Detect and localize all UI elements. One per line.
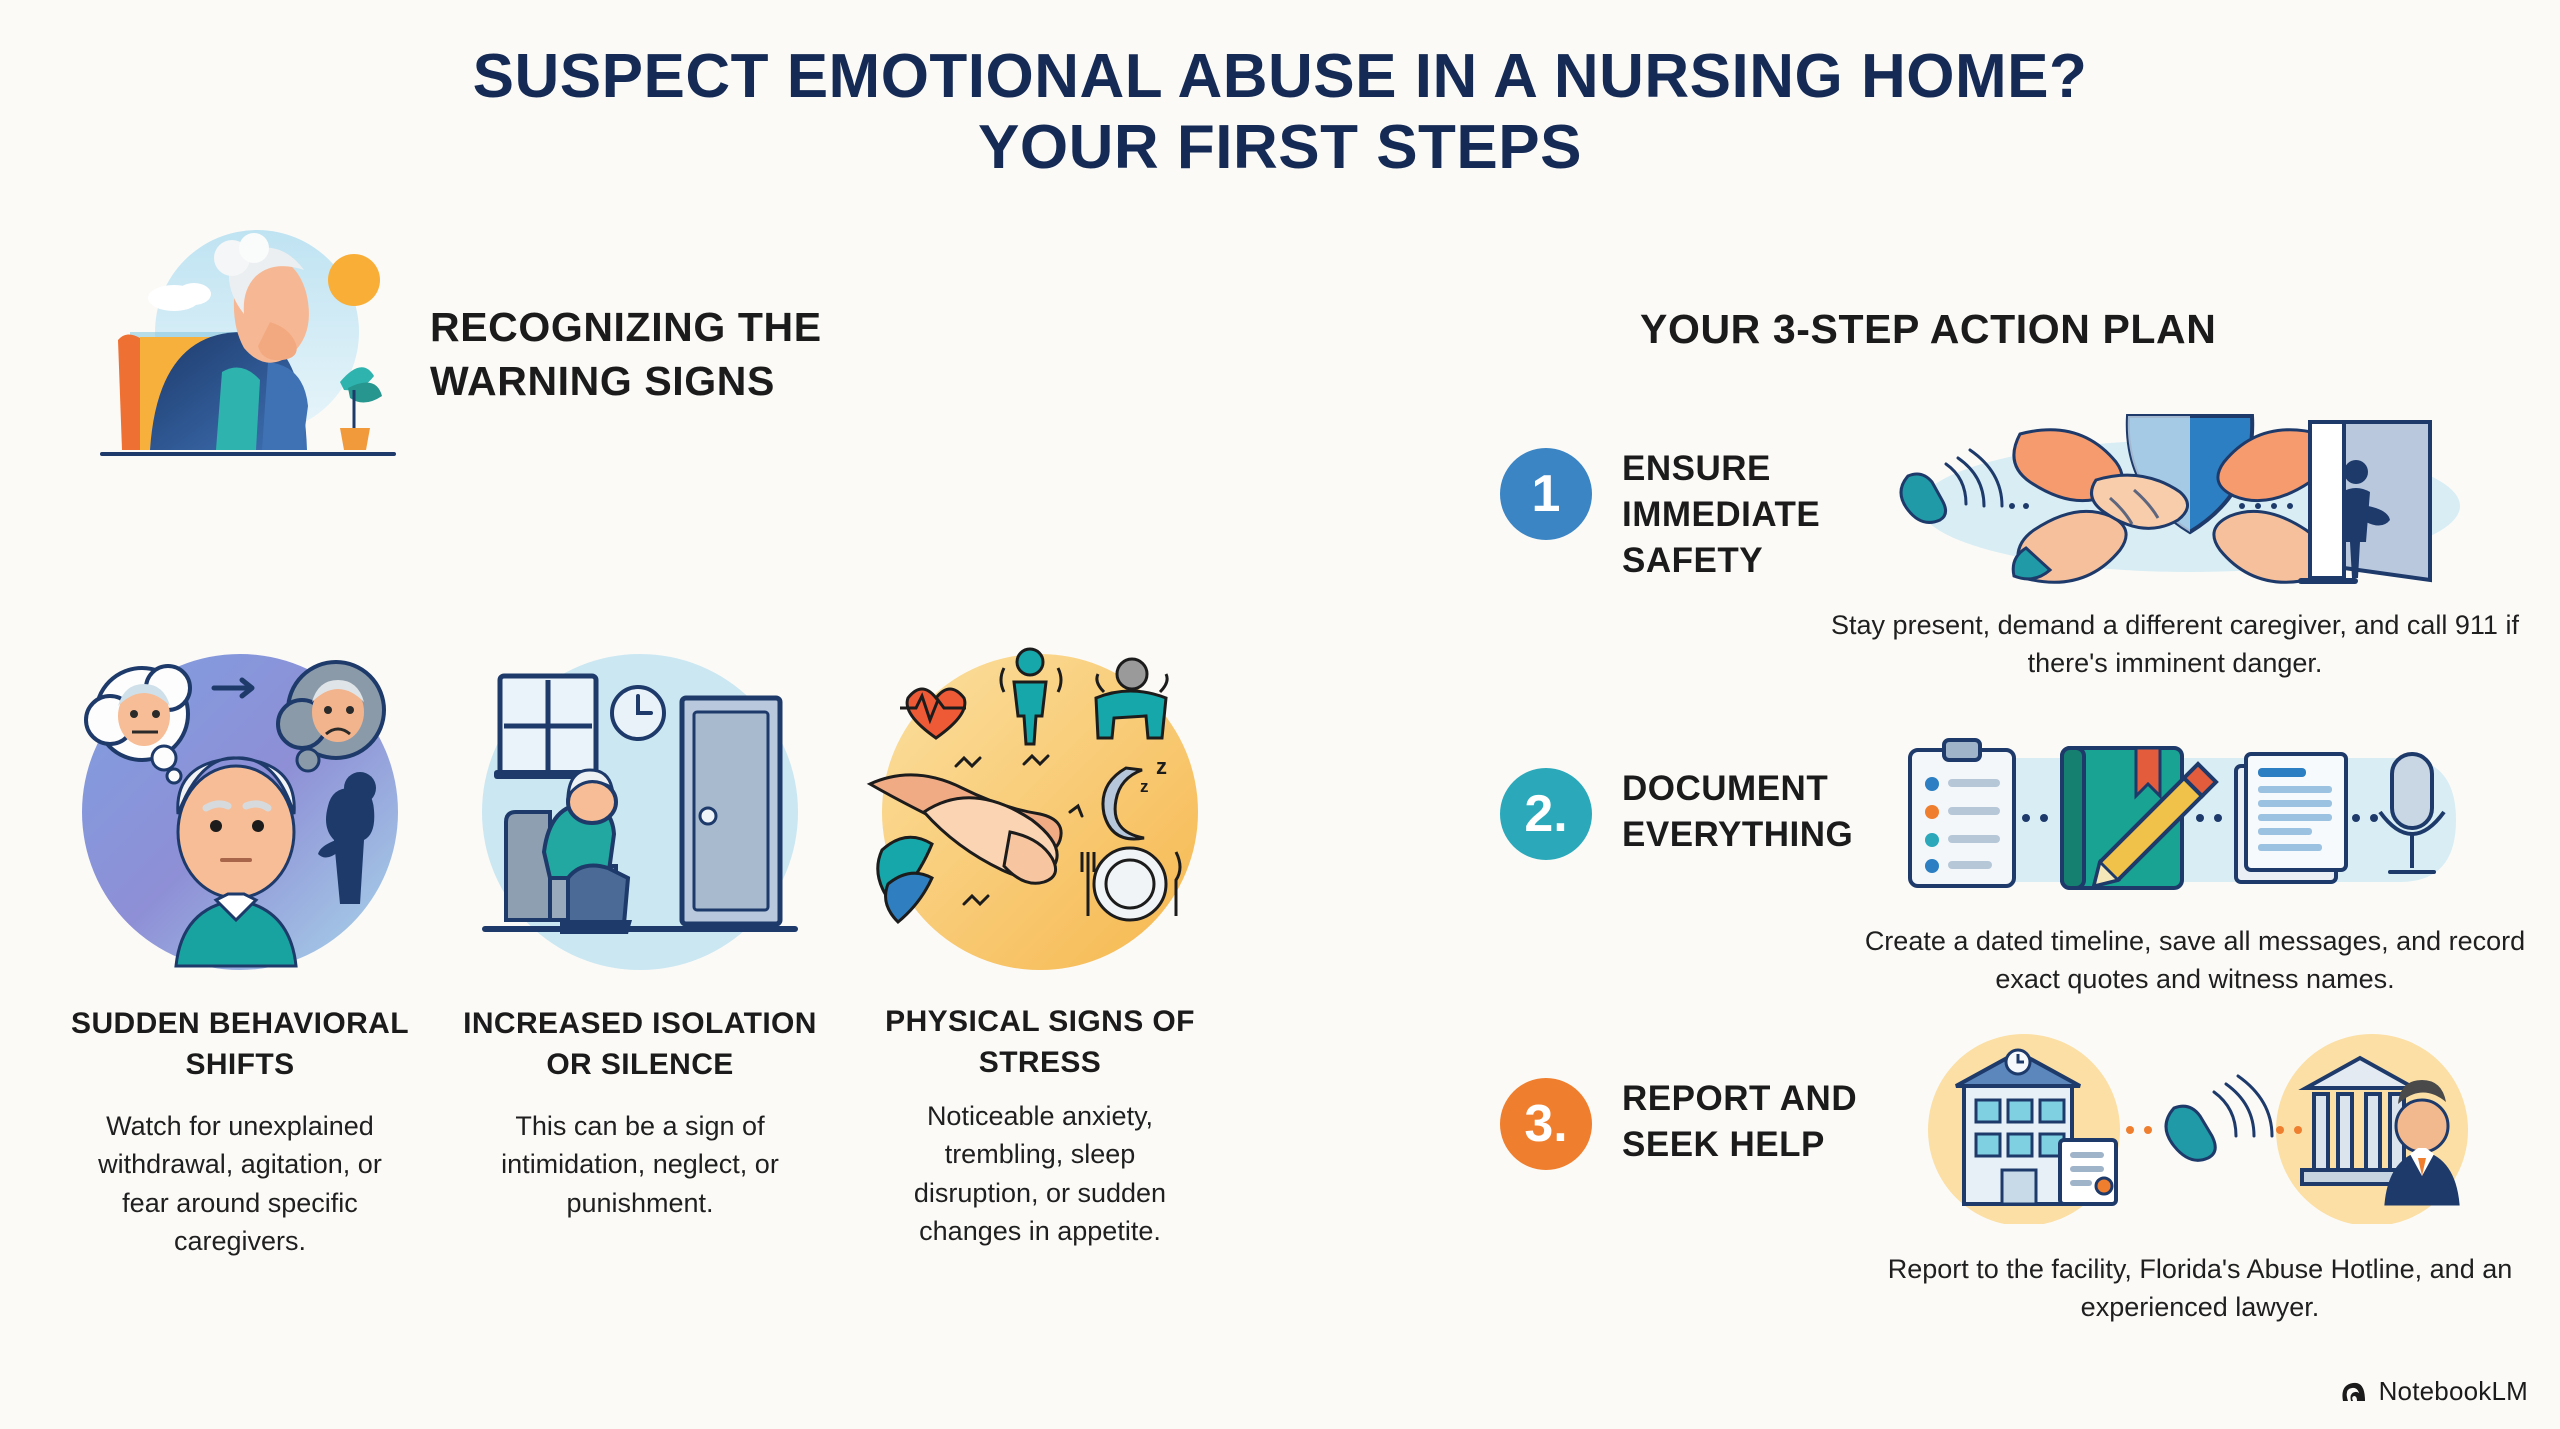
warning-card: z z PHYSICAL SIGNS OF STRESS Noticeable … (840, 636, 1240, 1260)
warning-card: INCREASED ISOLATION OR SILENCE This can … (440, 636, 840, 1260)
step-number-badge: 2. (1500, 768, 1592, 860)
facility-phone-courthouse-icon (1920, 1034, 2480, 1224)
svg-text:z: z (1156, 754, 1167, 779)
elderly-person-thinking-illustration (82, 222, 412, 477)
page-title-line-2: YOUR FIRST STEPS (0, 113, 2560, 184)
svg-text:z: z (1140, 777, 1149, 796)
stress-symptoms-icon: z z (864, 636, 1216, 988)
right-section-heading: YOUR 3-STEP ACTION PLAN (1640, 302, 2400, 356)
warning-card-title: INCREASED ISOLATION OR SILENCE (440, 1004, 840, 1085)
warning-card-title: SUDDEN BEHAVIORAL SHIFTS (40, 1004, 440, 1085)
shield-protecting-hands-icon (1890, 410, 2470, 600)
isolated-person-in-room-icon (464, 636, 816, 988)
warning-card-body: Noticeable anxiety, trembling, sleep dis… (890, 1097, 1190, 1250)
warning-card-body: Watch for unexplained withdrawal, agitat… (80, 1107, 400, 1260)
behavioral-change-thought-bubbles-icon (64, 636, 416, 988)
action-step: 1 ENSURE IMMEDIATE SAFETY Stay present, … (1500, 444, 2540, 585)
page-title-line-1: SUSPECT EMOTIONAL ABUSE IN A NURSING HOM… (0, 42, 2560, 113)
clipboard-notebook-documents-icon (1900, 736, 2470, 906)
action-step-body: Create a dated timeline, save all messag… (1830, 922, 2560, 999)
action-step: 3. REPORT AND SEEK HELP Report t (1500, 1074, 2540, 1170)
page-title: SUSPECT EMOTIONAL ABUSE IN A NURSING HOM… (0, 42, 2560, 183)
action-step: 2. DOCUMENT EVERYTHING (1500, 764, 2540, 860)
action-step-title: DOCUMENT EVERYTHING (1622, 764, 1922, 858)
warning-card: SUDDEN BEHAVIORAL SHIFTS Watch for unexp… (40, 636, 440, 1260)
warning-card-title: PHYSICAL SIGNS OF STRESS (840, 1002, 1240, 1083)
action-step-body: Report to the facility, Florida's Abuse … (1870, 1250, 2530, 1327)
action-step-title: ENSURE IMMEDIATE SAFETY (1622, 444, 1922, 585)
notebooklm-watermark: NotebookLM (2339, 1376, 2528, 1407)
warning-signs-card-row: SUDDEN BEHAVIORAL SHIFTS Watch for unexp… (40, 636, 1280, 1260)
warning-card-body: This can be a sign of intimidation, negl… (485, 1107, 795, 1222)
action-step-body: Stay present, demand a different caregiv… (1810, 606, 2540, 683)
notebooklm-spiral-icon (2339, 1379, 2369, 1405)
step-number-badge: 1 (1500, 448, 1592, 540)
action-step-title: REPORT AND SEEK HELP (1622, 1074, 1922, 1168)
left-section-heading: RECOGNIZING THE WARNING SIGNS (430, 300, 990, 408)
notebooklm-label: NotebookLM (2379, 1376, 2528, 1407)
step-number-badge: 3. (1500, 1078, 1592, 1170)
